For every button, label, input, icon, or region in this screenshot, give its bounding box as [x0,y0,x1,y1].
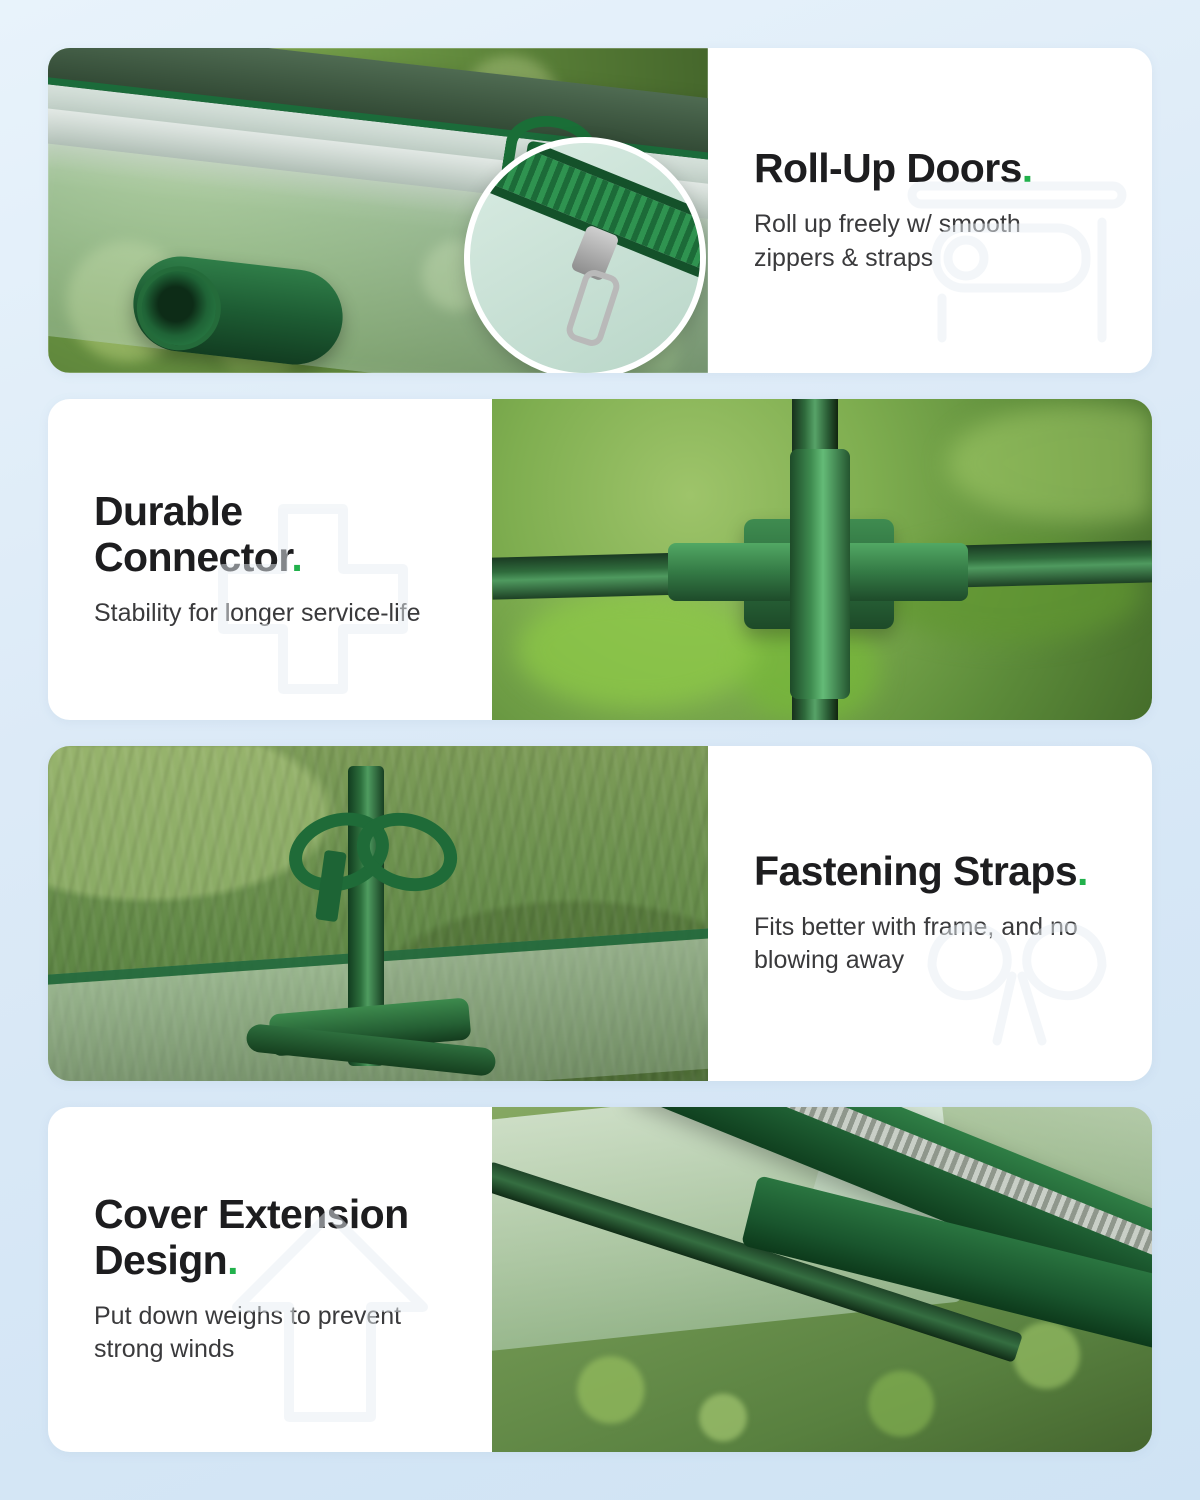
headline-accent-dot: . [227,1237,238,1283]
feature-image-roll-up-doors [48,48,708,373]
feature-card-roll-up-doors: Roll-Up Doors. Roll up freely w/ smooth … [48,48,1152,373]
feature-image-cover-extension-design [492,1107,1152,1452]
feature-text-roll-up-doors: Roll-Up Doors. Roll up freely w/ smooth … [708,48,1152,373]
feature-card-durable-connector: Durable Connector. Stability for longer … [48,399,1152,719]
feature-text-durable-connector: Durable Connector. Stability for longer … [48,399,492,719]
feature-headline-text: Roll-Up Doors [754,145,1022,191]
feature-text-cover-extension-design: Cover Extension Design. Put down weighs … [48,1107,492,1452]
feature-headline: Cover Extension Design. [94,1192,446,1284]
feature-headline: Fastening Straps. [754,849,1106,895]
feature-subline: Put down weighs to prevent strong winds [94,1300,446,1367]
feature-headline-text: Durable Connector [94,488,291,580]
strap-bow [288,814,458,884]
zipper-pull [563,267,622,349]
headline-accent-dot: . [1077,848,1088,894]
headline-accent-dot: . [1022,145,1033,191]
feature-card-fastening-straps: Fastening Straps. Fits better with frame… [48,746,1152,1081]
zipper-detail-inset [464,137,706,373]
feature-text-fastening-straps: Fastening Straps. Fits better with frame… [708,746,1152,1081]
feature-image-fastening-straps [48,746,708,1081]
feature-headline: Roll-Up Doors. [754,146,1106,192]
feature-image-durable-connector [492,399,1152,719]
cross-connector [744,519,894,629]
feature-list-page: Roll-Up Doors. Roll up freely w/ smooth … [0,0,1200,1500]
feature-subline: Fits better with frame, and no blowing a… [754,911,1106,978]
feature-headline-text: Fastening Straps [754,848,1077,894]
feature-subline: Stability for longer service-life [94,597,446,630]
feature-headline: Durable Connector. [94,489,446,581]
feature-headline-text: Cover Extension Design [94,1191,409,1283]
feature-subline: Roll up freely w/ smooth zippers & strap… [754,208,1106,275]
headline-accent-dot: . [291,534,302,580]
feature-card-cover-extension-design: Cover Extension Design. Put down weighs … [48,1107,1152,1452]
